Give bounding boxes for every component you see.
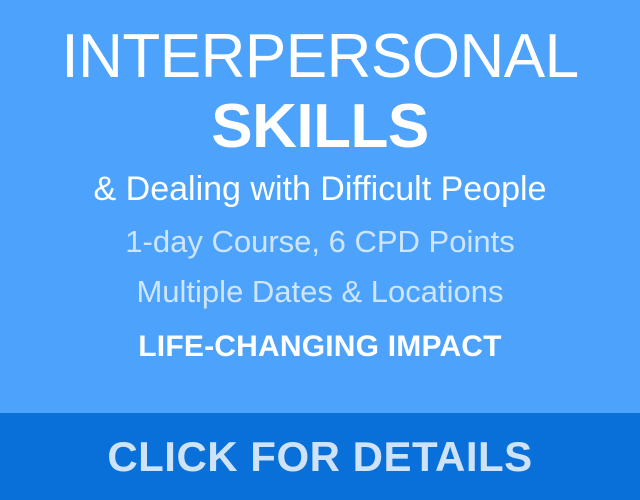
headline-line-1: INTERPERSONAL: [0, 26, 640, 88]
headline-line-2: SKILLS: [0, 96, 640, 158]
subheadline: & Dealing with Difficult People: [0, 172, 640, 208]
banner-content: INTERPERSONAL SKILLS & Dealing with Diff…: [0, 0, 640, 413]
advertisement-banner[interactable]: INTERPERSONAL SKILLS & Dealing with Diff…: [0, 0, 640, 500]
cta-button-label: CLICK FOR DETAILS: [107, 436, 532, 478]
detail-line-course-info: 1-day Course, 6 CPD Points: [0, 226, 640, 259]
impact-statement: LIFE-CHANGING IMPACT: [0, 331, 640, 363]
detail-line-dates-locations: Multiple Dates & Locations: [0, 276, 640, 309]
cta-button[interactable]: CLICK FOR DETAILS: [0, 413, 640, 500]
